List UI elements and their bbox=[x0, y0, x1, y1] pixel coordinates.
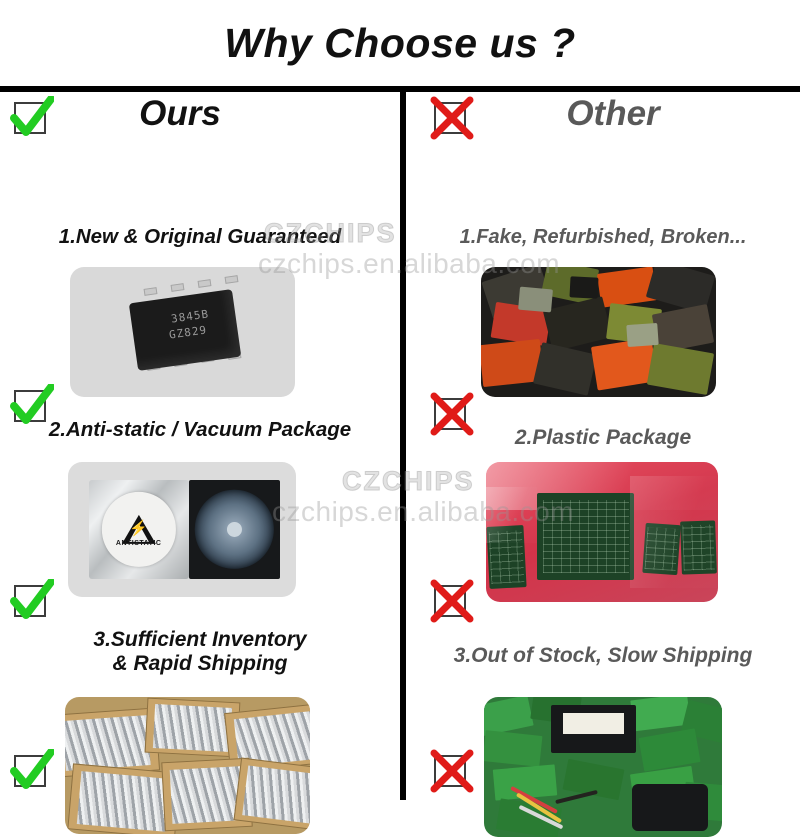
red-x-icon bbox=[430, 579, 474, 623]
column-ours-header: Ours bbox=[0, 92, 400, 154]
column-other: Other 1.Fake, Refurbished, Broken... bbox=[406, 92, 800, 800]
antistatic-label: ⚡ ANTISTATIC bbox=[102, 492, 176, 566]
column-other-header: Other bbox=[406, 92, 800, 154]
other-item-1-title: 1.Fake, Refurbished, Broken... bbox=[406, 226, 800, 248]
module-label bbox=[563, 713, 625, 734]
inventory-boxes-photo bbox=[65, 697, 310, 834]
page-title-bar: Why Choose us ? bbox=[0, 0, 800, 86]
check-glyph bbox=[10, 749, 54, 793]
antistatic-caption: ANTISTATIC bbox=[116, 540, 162, 547]
chip-tray bbox=[189, 480, 280, 580]
lightning-bolt-icon: ⚡ bbox=[129, 521, 148, 536]
plastic-package-photo bbox=[486, 462, 718, 602]
antistatic-bag: ⚡ ANTISTATIC bbox=[89, 480, 189, 580]
scrap-cpu-pile-photo bbox=[481, 267, 716, 397]
ic-chip-photo: 3845B GZ829 bbox=[70, 267, 295, 397]
black-module bbox=[551, 705, 637, 753]
column-ours: Ours 1.New & Original Guaranteed 3845B G… bbox=[0, 92, 400, 800]
ours-item-1-title: 1.New & Original Guaranteed bbox=[0, 226, 400, 249]
x-glyph bbox=[430, 579, 474, 623]
red-x-icon bbox=[430, 749, 474, 793]
ours-item-2-title: 2.Anti-static / Vacuum Package bbox=[0, 419, 400, 442]
ours-item-3-title: 3.Sufficient Inventory & Rapid Shipping bbox=[0, 628, 400, 675]
green-check-icon bbox=[10, 749, 54, 793]
other-item-3-title: 3.Out of Stock, Slow Shipping bbox=[406, 644, 800, 668]
x-glyph bbox=[430, 749, 474, 793]
antistatic-package-photo: ⚡ ANTISTATIC bbox=[68, 462, 296, 597]
page-title: Why Choose us ? bbox=[224, 20, 575, 67]
tray-reel bbox=[195, 490, 273, 568]
column-ours-label: Ours bbox=[0, 94, 380, 134]
other-item-2-title: 2.Plastic Package bbox=[406, 426, 800, 450]
black-device bbox=[632, 784, 708, 832]
column-other-label: Other bbox=[416, 94, 800, 134]
check-glyph bbox=[10, 579, 54, 623]
scrap-boards-photo bbox=[484, 697, 722, 837]
green-check-icon bbox=[10, 579, 54, 623]
